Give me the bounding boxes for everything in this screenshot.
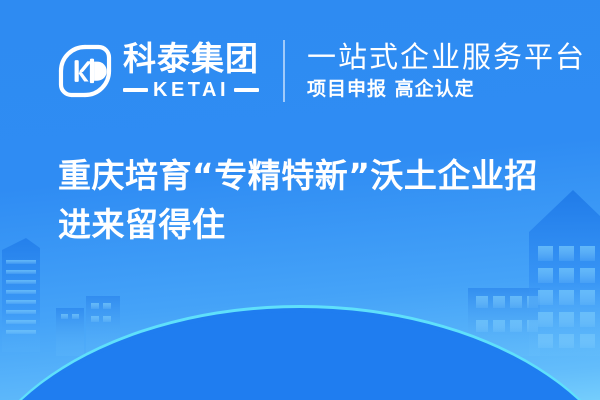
slogan-block: 一站式企业服务平台 项目申报 高企认定 [307,41,586,102]
header-divider [283,40,285,102]
brand-name-en-row: KETAI [123,80,259,100]
promo-banner: 科泰集团 KETAI 一站式企业服务平台 项目申报 高企认定 重庆培育“专精特新… [0,0,600,400]
ketai-diamond-monogram-icon [56,42,114,100]
brand-dash-left [123,88,148,92]
headline-title: 重庆培育“专精特新”沃土企业招进来留得住 [58,152,550,250]
brand-name-cn: 科泰集团 [123,42,259,76]
left-tower [2,238,40,352]
brand-logo[interactable]: 科泰集团 KETAI [56,42,259,100]
slogan-main: 一站式企业服务平台 [307,41,586,74]
slogan-sub: 项目申报 高企认定 [307,77,586,102]
brand-name-en: KETAI [153,80,229,100]
banner-header: 科泰集团 KETAI 一站式企业服务平台 项目申报 高企认定 [56,34,586,108]
brand-dash-right [234,88,259,92]
